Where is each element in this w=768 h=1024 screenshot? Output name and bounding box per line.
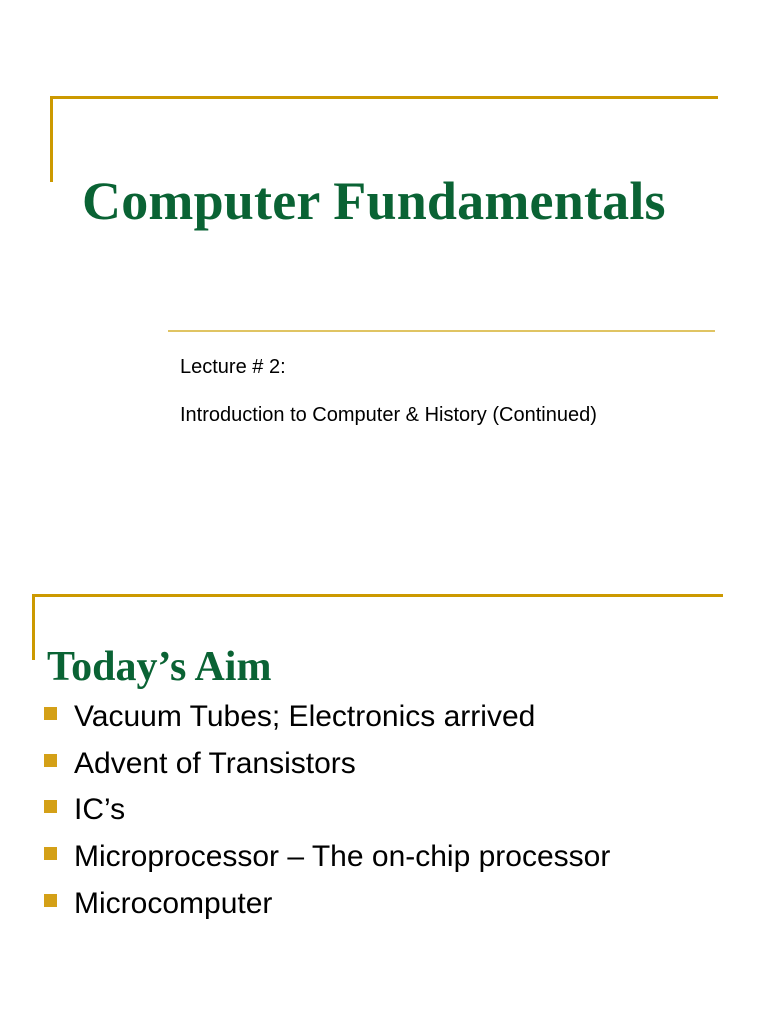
- list-item-label: Microcomputer: [74, 885, 272, 923]
- square-bullet-icon: [44, 707, 57, 720]
- list-item-label: Advent of Transistors: [74, 745, 356, 783]
- list-item: IC’s: [44, 791, 744, 838]
- list-item-label: Vacuum Tubes; Electronics arrived: [74, 698, 535, 736]
- aim-rule-top: [32, 594, 723, 597]
- lecture-topic: Introduction to Computer & History (Cont…: [180, 403, 710, 428]
- subtitle-block: Lecture # 2: Introduction to Computer & …: [180, 355, 710, 428]
- list-item: Microprocessor – The on-chip processor: [44, 838, 744, 885]
- title-rule-top: [50, 96, 718, 99]
- title-slide: Computer Fundamentals Lecture # 2: Intro…: [0, 0, 768, 580]
- list-item: Vacuum Tubes; Electronics arrived: [44, 698, 744, 745]
- aim-rule-left: [32, 594, 35, 660]
- square-bullet-icon: [44, 847, 57, 860]
- list-item-label: IC’s: [74, 791, 125, 829]
- lecture-number: Lecture # 2:: [180, 355, 710, 380]
- aim-bullet-list: Vacuum Tubes; Electronics arrived Advent…: [44, 698, 744, 931]
- square-bullet-icon: [44, 894, 57, 907]
- list-item-label: Microprocessor – The on-chip processor: [74, 838, 610, 876]
- aim-slide: Today’s Aim Vacuum Tubes; Electronics ar…: [0, 580, 768, 1024]
- page-title: Computer Fundamentals: [82, 168, 722, 234]
- presentation-page: Computer Fundamentals Lecture # 2: Intro…: [0, 0, 768, 1024]
- list-item: Advent of Transistors: [44, 745, 744, 792]
- title-rule-left: [50, 96, 53, 182]
- subtitle-divider: [168, 330, 715, 332]
- list-item: Microcomputer: [44, 885, 744, 932]
- square-bullet-icon: [44, 754, 57, 767]
- square-bullet-icon: [44, 800, 57, 813]
- section-heading: Today’s Aim: [47, 641, 271, 693]
